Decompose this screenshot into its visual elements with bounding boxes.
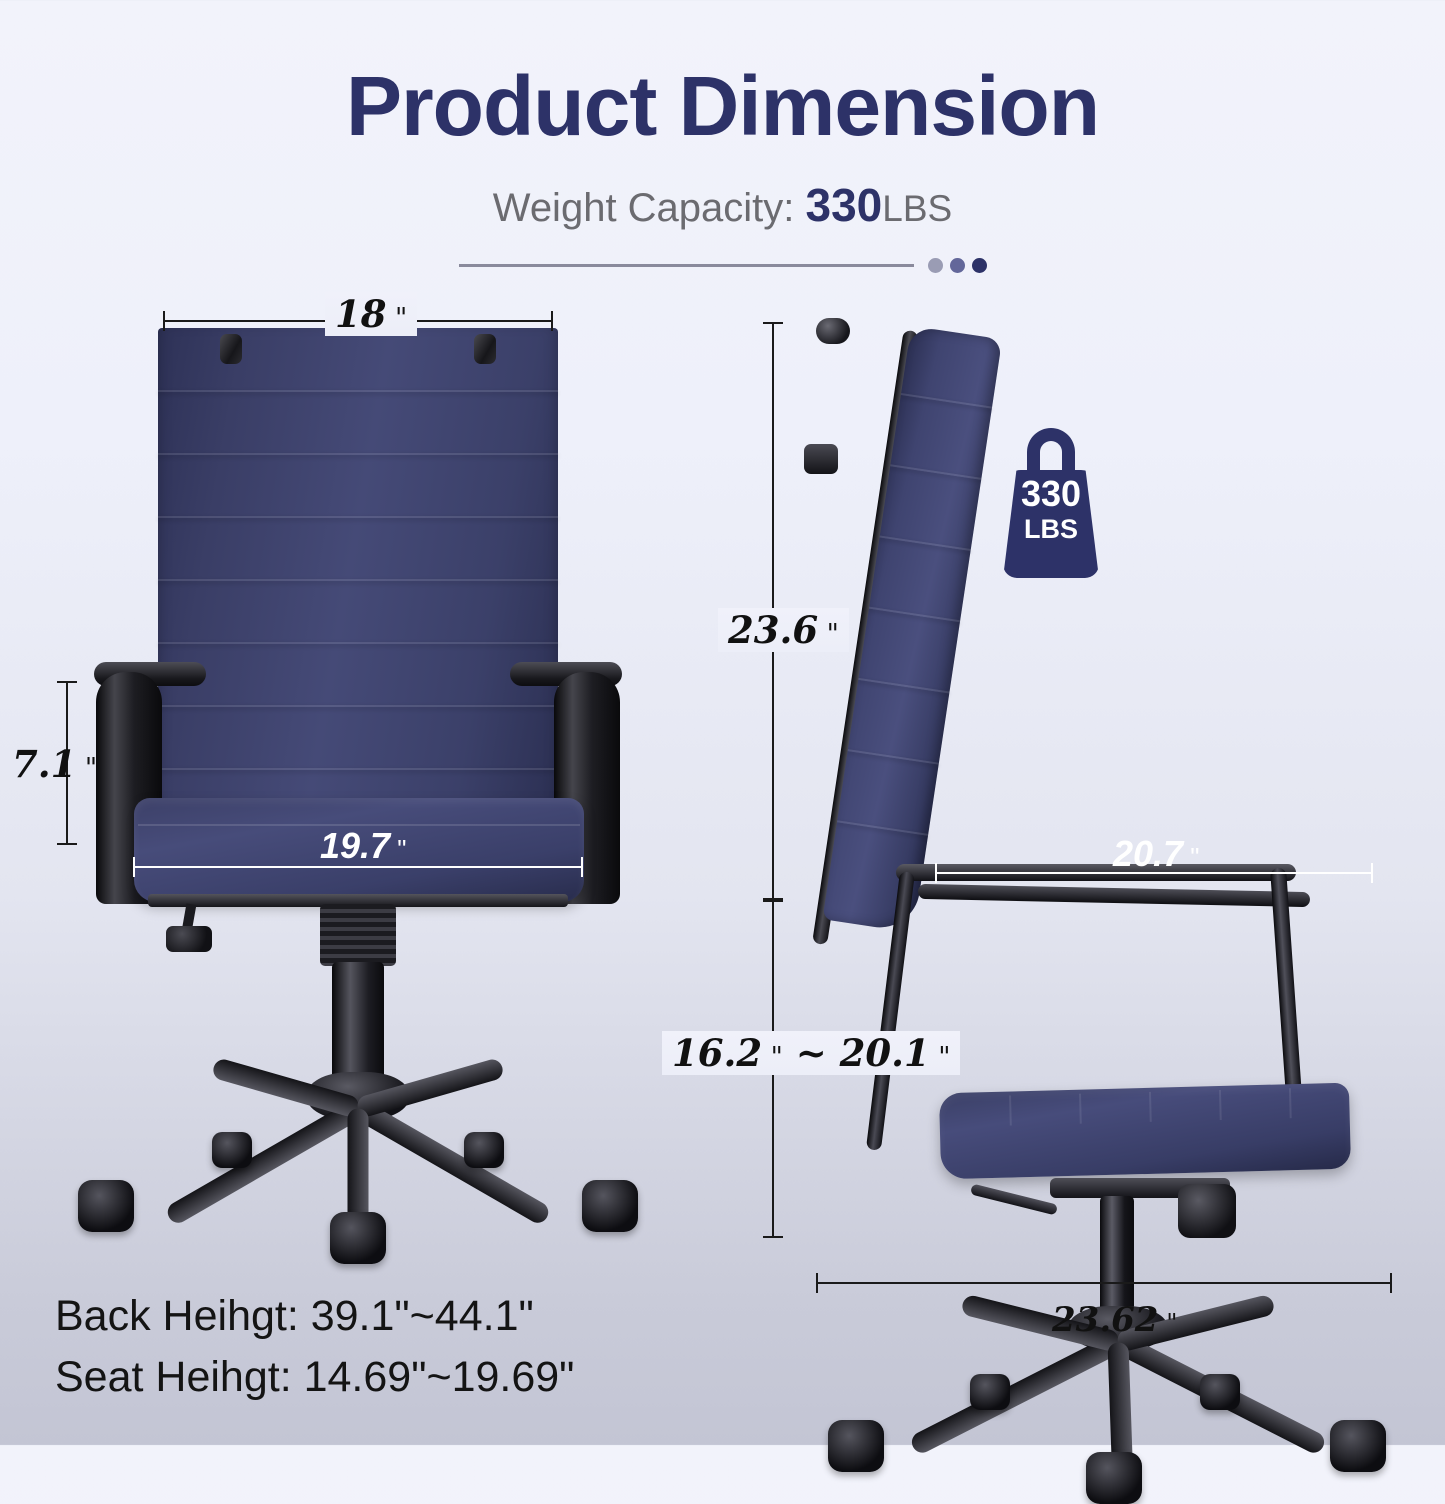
front-caster [330,1212,386,1264]
side-tension-knob-icon [804,444,838,474]
side-caster [1330,1420,1386,1472]
front-caster [582,1180,638,1232]
dim-line-base-width [816,1282,1392,1284]
page-title: Product Dimension [0,58,1445,155]
dim-label-back-width: 18 " [325,292,417,336]
side-backrest [823,326,1003,933]
spec-seat-height: Seat Heihgt: 14.69"~19.69" [55,1347,574,1408]
dim-label-armrest-height: 7.1 " [12,742,97,786]
spec-text-block: Back Heihgt: 39.1"~44.1" Seat Heihgt: 14… [55,1286,574,1408]
dim-label-back-height: 23.6 " [718,608,849,652]
side-backrest-cap-icon [816,318,850,344]
weight-capacity-prefix: Weight Capacity: [493,186,806,230]
badge-value: 330 [1003,476,1099,512]
side-caster [1200,1374,1240,1410]
front-caster [464,1132,504,1168]
side-gas-cylinder [1100,1196,1134,1316]
badge-unit: LBS [1003,516,1099,543]
backrest-cap-right-icon [474,334,496,364]
weight-capacity-value: 330 [806,179,883,231]
weight-capacity-unit: LBS [882,188,952,229]
front-view-chair [88,316,628,1256]
side-tilt-knob-icon [1178,1184,1236,1238]
front-base-leg [164,1099,363,1226]
backrest-cap-left-icon [220,334,242,364]
dim-label-seat-width: 19.7 " [320,825,406,867]
dim-label-seat-depth: 20.7 " [1113,833,1199,875]
side-tilt-lever [970,1184,1058,1216]
dot-mid-icon [950,258,965,273]
header-divider [0,258,1445,273]
front-caster [78,1180,134,1232]
side-seat-cushion [939,1083,1351,1180]
side-armrest-tube-lower [918,884,1310,907]
side-caster [1086,1452,1142,1504]
front-base-leg [353,1099,552,1226]
front-tilt-knob-icon [166,926,212,952]
divider-line [459,264,914,267]
front-caster [212,1132,252,1168]
side-caster [828,1420,884,1472]
side-base-leg [908,1333,1122,1456]
weight-capacity-badge: 330 LBS [1003,428,1099,578]
front-backrest [158,328,558,828]
side-caster [970,1374,1010,1410]
front-cylinder-bellows [320,904,396,966]
dim-label-seat-height-range: 16.2 " ~ 20.1 " [662,1031,960,1075]
side-view-chair [800,316,1400,1261]
weight-capacity-subtitle: Weight Capacity: 330LBS [0,178,1445,232]
front-gas-cylinder [332,962,384,1082]
spec-back-height: Back Heihgt: 39.1"~44.1" [55,1286,574,1347]
infographic-canvas: Product Dimension Weight Capacity: 330LB… [0,0,1445,1445]
dot-dark-icon [972,258,987,273]
divider-dots [928,258,987,273]
dim-label-base-width: 23.62 " [1052,1300,1178,1340]
dot-light-icon [928,258,943,273]
